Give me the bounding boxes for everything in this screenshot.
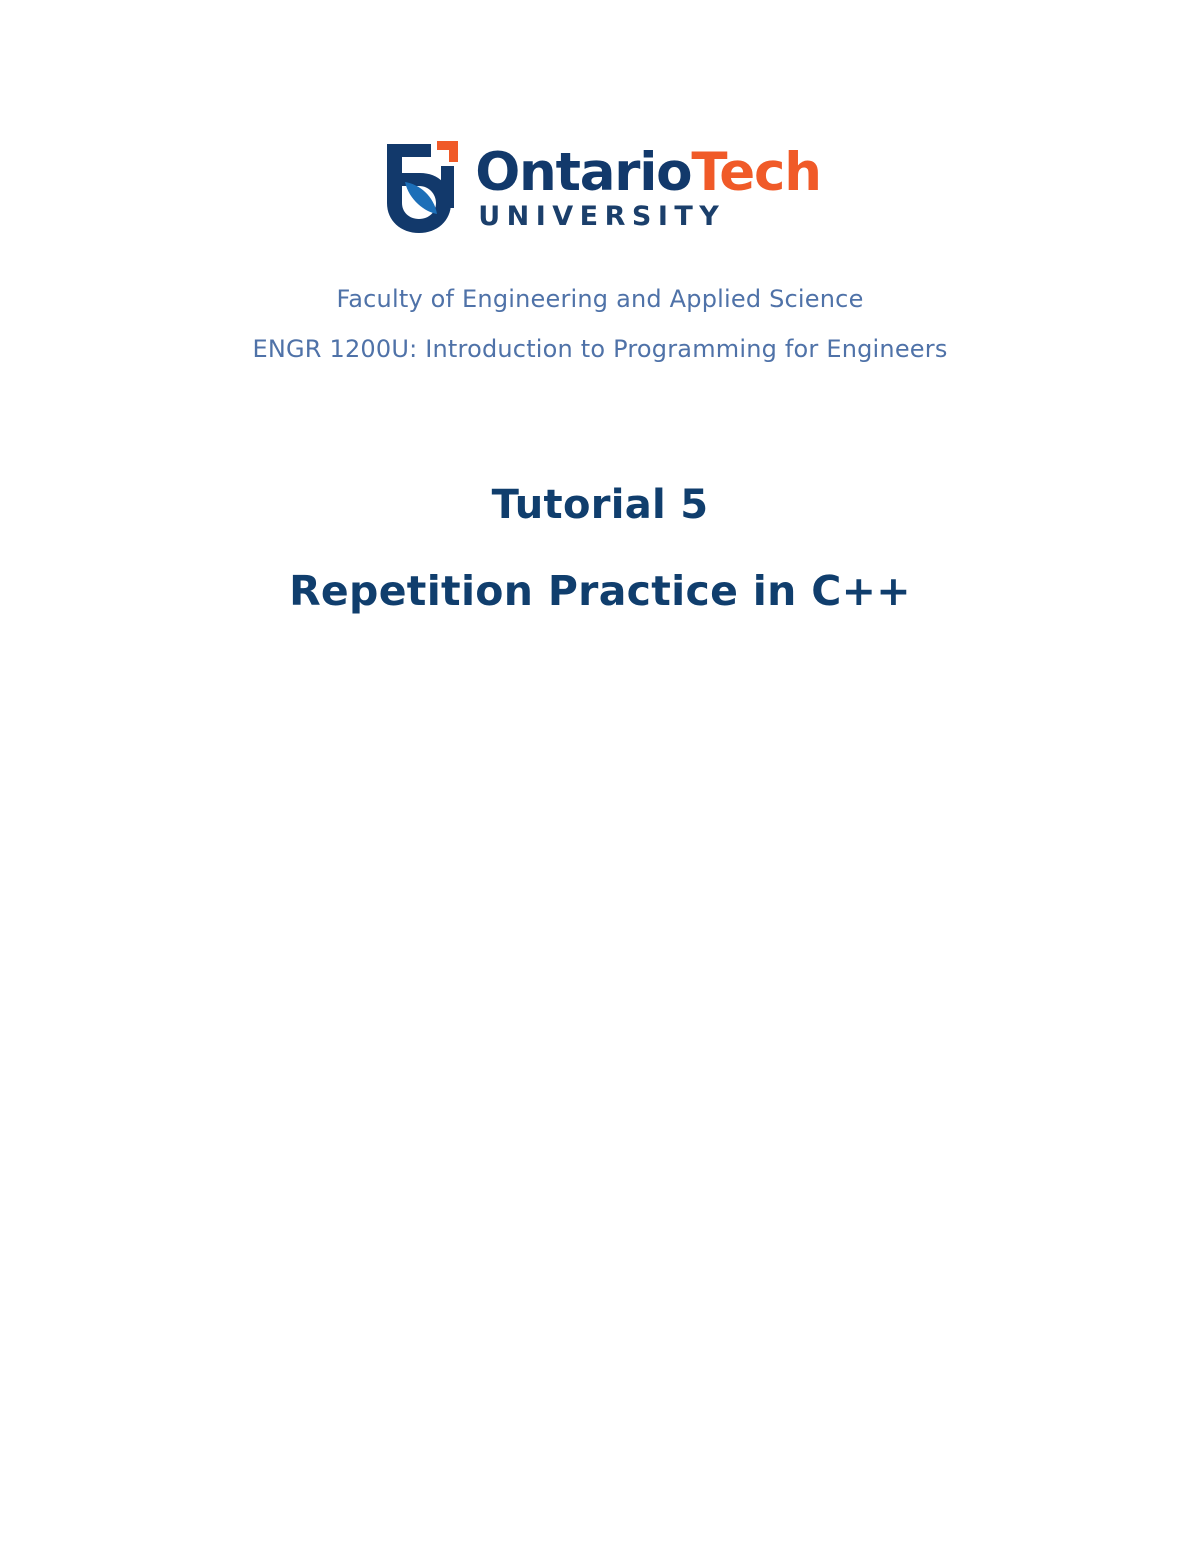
ontario-tech-5u-mark-icon (379, 140, 461, 236)
course-code-line: ENGR 1200U: Introduction to Programming … (0, 324, 1200, 374)
page-subtitle: Repetition Practice in C++ (0, 548, 1200, 634)
logo-subline-university: UNIVERSITY (478, 202, 725, 232)
document-page: OntarioTech UNIVERSITY Faculty of Engine… (0, 0, 1200, 1553)
logo-wordmark: OntarioTech (475, 146, 821, 200)
page-title: Tutorial 5 (0, 462, 1200, 548)
course-meta-block: Faculty of Engineering and Applied Scien… (0, 274, 1200, 374)
title-block: Tutorial 5 Repetition Practice in C++ (0, 462, 1200, 634)
university-logo: OntarioTech UNIVERSITY (0, 138, 1200, 236)
logo-wordmark-ontario: Ontario (475, 142, 691, 203)
logo-wordmark-tech: Tech (691, 142, 820, 203)
logo-wordmark-group: OntarioTech UNIVERSITY (475, 138, 821, 232)
logo-inner: OntarioTech UNIVERSITY (379, 138, 821, 236)
faculty-line: Faculty of Engineering and Applied Scien… (0, 274, 1200, 324)
